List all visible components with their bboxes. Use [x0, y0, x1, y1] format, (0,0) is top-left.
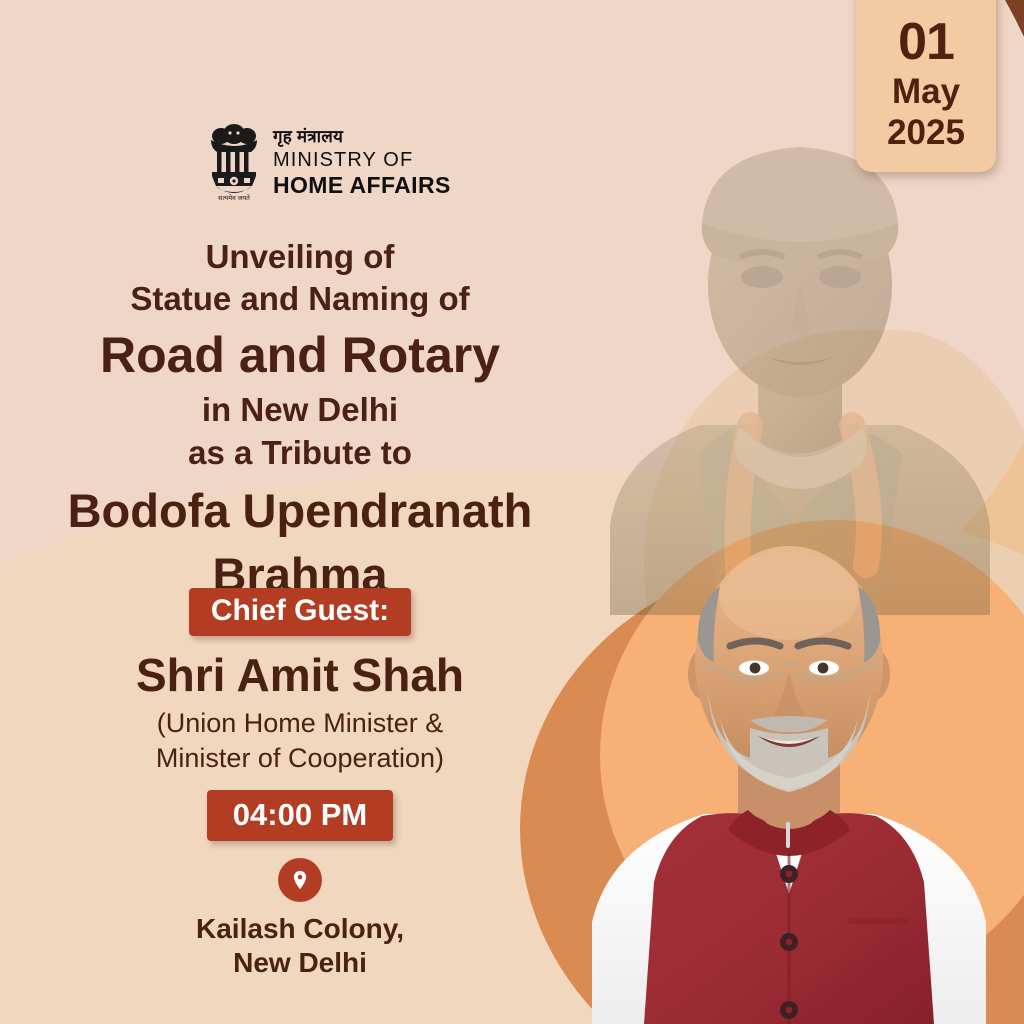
chief-guest-name: Shri Amit Shah: [0, 652, 600, 698]
chief-guest-block: Chief Guest: Shri Amit Shah (Union Home …: [0, 588, 600, 775]
location-pin-icon: [278, 858, 322, 902]
event-poster: 01 May 2025: [0, 0, 1024, 1024]
ministry-logo: सत्यमेव जयते गृह मंत्रालय MINISTRY OF HO…: [205, 122, 451, 202]
headline-line-2: Statue and Naming of: [0, 278, 600, 320]
headline-line-6: Bodofa Upendranath: [0, 484, 600, 539]
chief-guest-tag: Chief Guest:: [189, 588, 411, 636]
chief-guest-role-line-1: (Union Home Minister &: [0, 706, 600, 741]
chief-guest-portrait-image: [552, 522, 1024, 1024]
event-time-block: 04:00 PM: [0, 790, 600, 841]
chief-guest-role-line-2: Minister of Cooperation): [0, 741, 600, 776]
ashoka-lion-capital-emblem-icon: सत्यमेव जयते: [205, 122, 263, 202]
svg-text:सत्यमेव जयते: सत्यमेव जयते: [218, 194, 250, 202]
date-year: 2025: [856, 115, 996, 150]
venue-line-2: New Delhi: [0, 946, 600, 980]
ministry-line-1: MINISTRY OF: [273, 150, 451, 170]
date-day: 01: [856, 16, 996, 68]
event-venue-block: Kailash Colony, New Delhi: [0, 858, 600, 980]
ministry-hindi-label: गृह मंत्रालय: [273, 128, 451, 145]
headline-line-5: as a Tribute to: [0, 432, 600, 474]
event-time-badge: 04:00 PM: [207, 790, 393, 841]
venue-line-1: Kailash Colony,: [0, 912, 600, 946]
event-headline: Unveiling of Statue and Naming of Road a…: [0, 236, 600, 603]
ministry-line-2: HOME AFFAIRS: [273, 174, 451, 197]
headline-line-1: Unveiling of: [0, 236, 600, 278]
headline-line-3: Road and Rotary: [0, 326, 600, 385]
date-month: May: [856, 74, 996, 109]
headline-line-4: in New Delhi: [0, 389, 600, 431]
date-badge: 01 May 2025: [856, 0, 996, 172]
